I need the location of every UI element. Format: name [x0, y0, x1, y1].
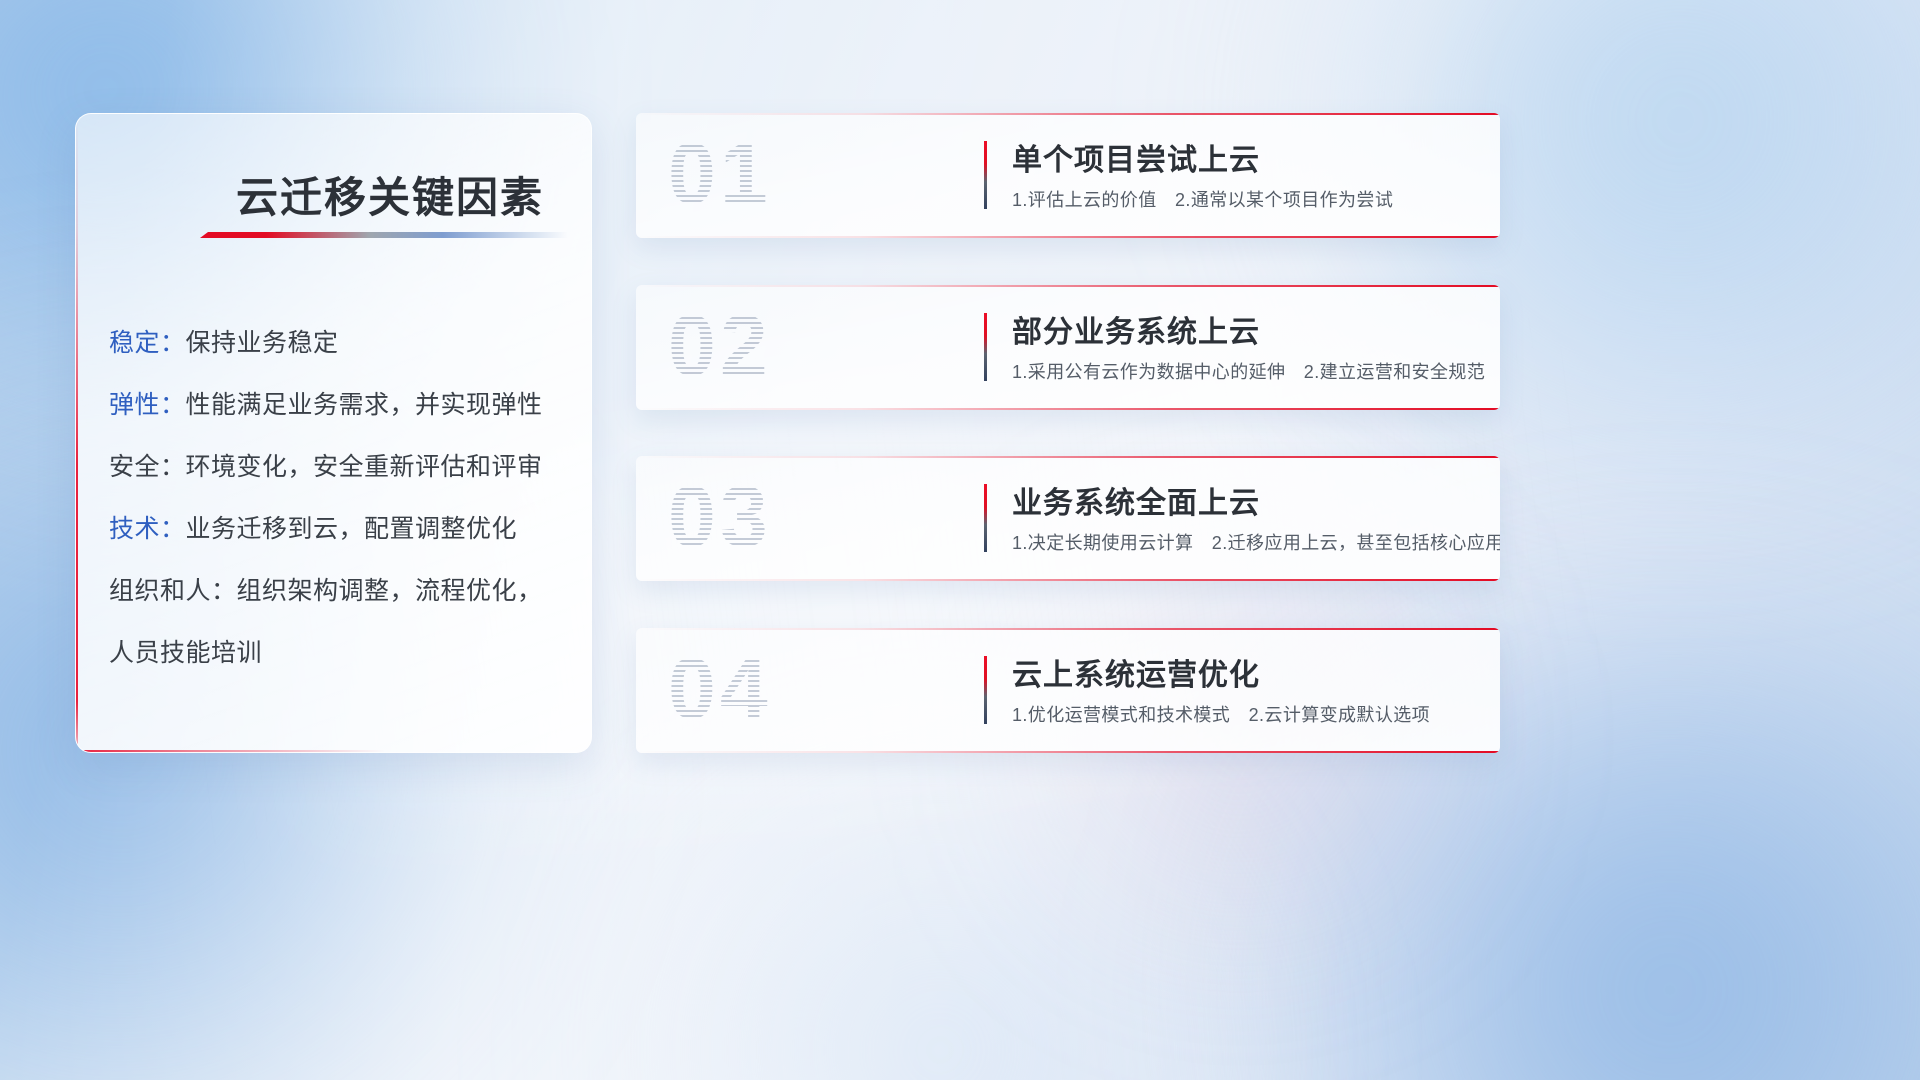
list-item-value: 环境变化，安全重新评估和评审 — [186, 453, 543, 481]
step-subtitle: 1.采用公有云作为数据中心的延伸 2.建立运营和安全规范 — [1012, 358, 1485, 384]
step-subtitle: 1.评估上云的价值 2.通常以某个项目作为尝试 — [1012, 186, 1393, 212]
key-factors-list: 稳定：保持业务稳定 弹性：性能满足业务需求，并实现弹性 安全：环境变化，安全重新… — [109, 312, 563, 684]
step-divider — [984, 141, 987, 209]
step-card-02[interactable]: 02 部分业务系统上云 1.采用公有云作为数据中心的延伸 2.建立运营和安全规范 — [636, 285, 1500, 410]
step-title: 部分业务系统上云 — [1012, 307, 1260, 351]
list-item: 技术：业务迁移到云，配置调整优化 — [109, 498, 563, 560]
list-item: 组织和人：组织架构调整，流程优化，人员技能培训 — [109, 560, 563, 684]
step-subtitle: 1.优化运营模式和技术模式 2.云计算变成默认选项 — [1012, 701, 1430, 727]
step-number: 03 — [668, 468, 772, 567]
step-subtitle: 1.决定长期使用云计算 2.迁移应用上云，甚至包括核心应用 — [1012, 529, 1500, 555]
step-number: 01 — [668, 125, 772, 224]
list-item: 稳定：保持业务稳定 — [109, 312, 563, 374]
list-item-key: 稳定： — [109, 329, 186, 357]
list-item-key: 技术： — [109, 515, 186, 543]
list-item-value: 性能满足业务需求，并实现弹性 — [186, 391, 543, 419]
key-factors-panel: 云迁移关键因素 稳定：保持业务稳定 弹性：性能满足业务需求，并实现弹性 安全：环… — [75, 113, 592, 753]
list-item-value: 业务迁移到云，配置调整优化 — [186, 515, 518, 543]
step-divider — [984, 656, 987, 724]
step-title: 业务系统全面上云 — [1012, 478, 1260, 522]
step-divider — [984, 484, 987, 552]
list-item-key: 弹性： — [109, 391, 186, 419]
page-title: 云迁移关键因素 — [236, 164, 544, 225]
step-number: 04 — [668, 640, 772, 739]
list-item-value: 保持业务稳定 — [186, 329, 339, 357]
step-card-01[interactable]: 01 单个项目尝试上云 1.评估上云的价值 2.通常以某个项目作为尝试 — [636, 113, 1500, 238]
step-title: 单个项目尝试上云 — [1012, 135, 1260, 179]
step-divider — [984, 313, 987, 381]
step-title: 云上系统运营优化 — [1012, 650, 1260, 694]
slide-stage: 云迁移关键因素 稳定：保持业务稳定 弹性：性能满足业务需求，并实现弹性 安全：环… — [0, 0, 1920, 1080]
list-item-key: 安全： — [109, 453, 186, 481]
title-underline-rule — [200, 232, 568, 238]
step-number: 02 — [668, 297, 772, 396]
list-item: 弹性：性能满足业务需求，并实现弹性 — [109, 374, 563, 436]
list-item-key: 组织和人： — [109, 577, 237, 605]
step-card-04[interactable]: 04 云上系统运营优化 1.优化运营模式和技术模式 2.云计算变成默认选项 — [636, 628, 1500, 753]
step-card-03[interactable]: 03 业务系统全面上云 1.决定长期使用云计算 2.迁移应用上云，甚至包括核心应… — [636, 456, 1500, 581]
list-item: 安全：环境变化，安全重新评估和评审 — [109, 436, 563, 498]
